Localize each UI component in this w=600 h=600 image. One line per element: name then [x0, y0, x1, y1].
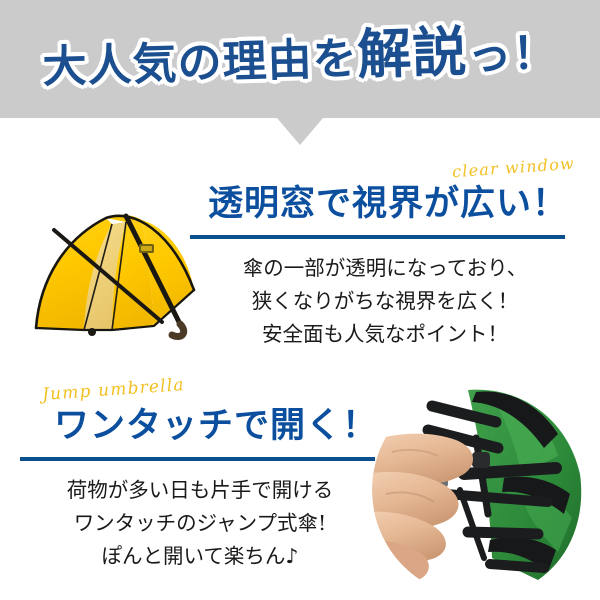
body-line: ワンタッチのジャンプ式傘! — [10, 507, 390, 540]
heading-underline-1 — [190, 235, 565, 239]
umbrella-handle — [172, 324, 184, 337]
feature-body-clear-window: 傘の一部が透明になっており、 狭くなりがちな視界を広く！ 安全面も人気なポイント… — [195, 252, 575, 351]
infographic-page: 大人気の理由を解説っ！ — [0, 0, 600, 600]
feature-heading-jump-umbrella: ワンタッチで開く！ — [54, 406, 378, 446]
page-title-part-3: っ！ — [467, 28, 558, 81]
umbrella-runner — [472, 452, 490, 468]
body-line: ぽんと開いて楽ちん♪ — [10, 540, 390, 573]
hand-holding-umbrella-photo — [372, 382, 588, 598]
feature-body-jump-umbrella: 荷物が多い日も片手で開ける ワンタッチのジャンプ式傘! ぽんと開いて楽ちん♪ — [10, 474, 390, 573]
heading-underline-2 — [20, 457, 375, 461]
feature-heading-clear-window: 透明窓で視界が広い！ — [208, 184, 568, 224]
down-triangle-icon — [277, 118, 323, 145]
body-line: 安全面も人気なポイント！ — [195, 318, 575, 351]
yellow-umbrella-photo — [22, 172, 214, 364]
script-label-jump-umbrella: Jump umbrella — [41, 375, 185, 405]
body-line: 狭くなりがちな視界を広く！ — [195, 285, 575, 318]
body-line: 荷物が多い日も片手で開ける — [10, 474, 390, 507]
page-title-part-1: 大人気の理由を — [42, 33, 358, 93]
script-label-clear-window: clear window — [451, 154, 575, 182]
body-line: 傘の一部が透明になっており、 — [195, 252, 575, 285]
page-title-part-2: 解説 — [357, 20, 469, 86]
